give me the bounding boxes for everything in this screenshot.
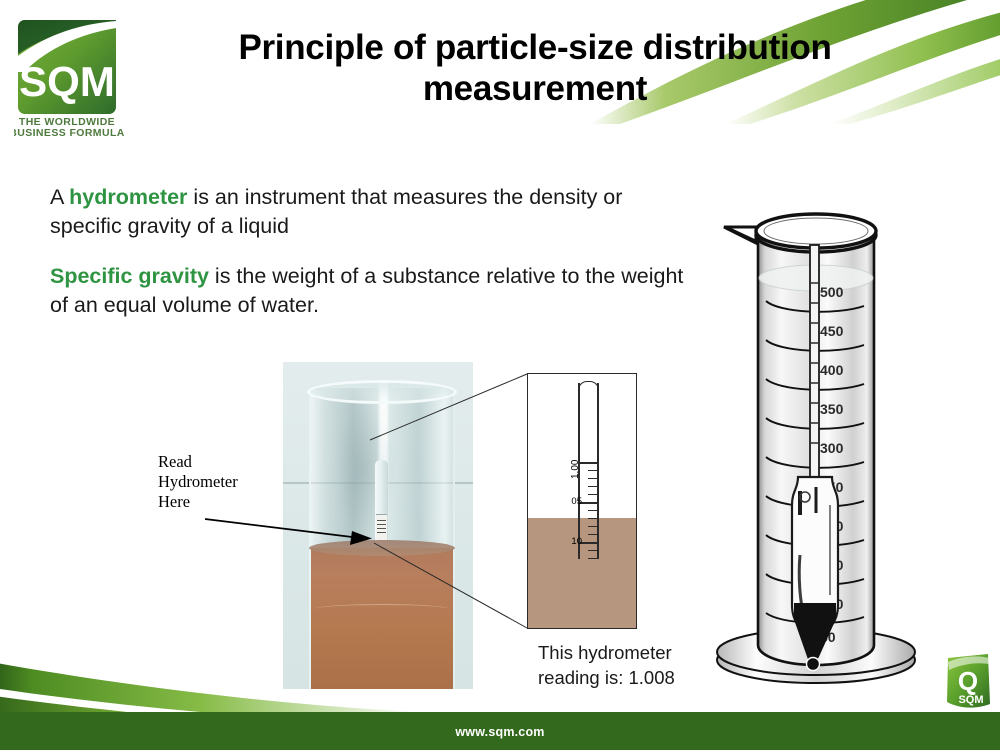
cylinder-label-500: 500 — [820, 284, 844, 300]
graduated-cylinder-illustration: 500 450 400 350 300 250 200 150 100 50 — [712, 205, 934, 700]
detail-scale-label-10: 10 — [560, 536, 582, 547]
detail-stem-tip — [578, 381, 599, 390]
hydrometer-detail-panel: 1.00 05 10 — [527, 373, 637, 629]
caption-line-1: This hydrometer — [538, 641, 728, 666]
cylinder-label-450: 450 — [820, 323, 844, 339]
badge-label: SQM — [958, 694, 983, 706]
cylinder-rim-inner — [756, 214, 876, 248]
detail-leader-line-bottom — [374, 543, 527, 628]
detail-liquid-fill — [528, 518, 636, 628]
detail-scale-label-100: 1.00 — [569, 460, 583, 500]
hydrometer-weight-tip — [807, 658, 820, 671]
annotation-arrow-shaft — [205, 519, 352, 537]
cylinder-label-400: 400 — [820, 362, 844, 378]
slide-canvas: SQM THE WORLDWIDE BUSINESS FORMULA Princ… — [0, 0, 1000, 750]
footer-website-url[interactable]: www.sqm.com — [0, 725, 1000, 739]
hydrometer-stem — [810, 245, 819, 477]
detail-panel-caption: This hydrometer reading is: 1.008 — [538, 641, 728, 690]
badge-letter: Q — [958, 666, 978, 696]
cylinder-label-300: 300 — [820, 440, 844, 456]
caption-line-2: reading is: 1.008 — [538, 666, 728, 691]
annotation-arrow-head — [350, 531, 372, 545]
q-sqm-badge: Q SQM — [944, 652, 994, 710]
cylinder-label-350: 350 — [820, 401, 844, 417]
detail-scale-label-05: 05 — [560, 496, 582, 507]
detail-scale-ticks — [588, 462, 599, 559]
detail-leader-line-top — [370, 374, 527, 440]
